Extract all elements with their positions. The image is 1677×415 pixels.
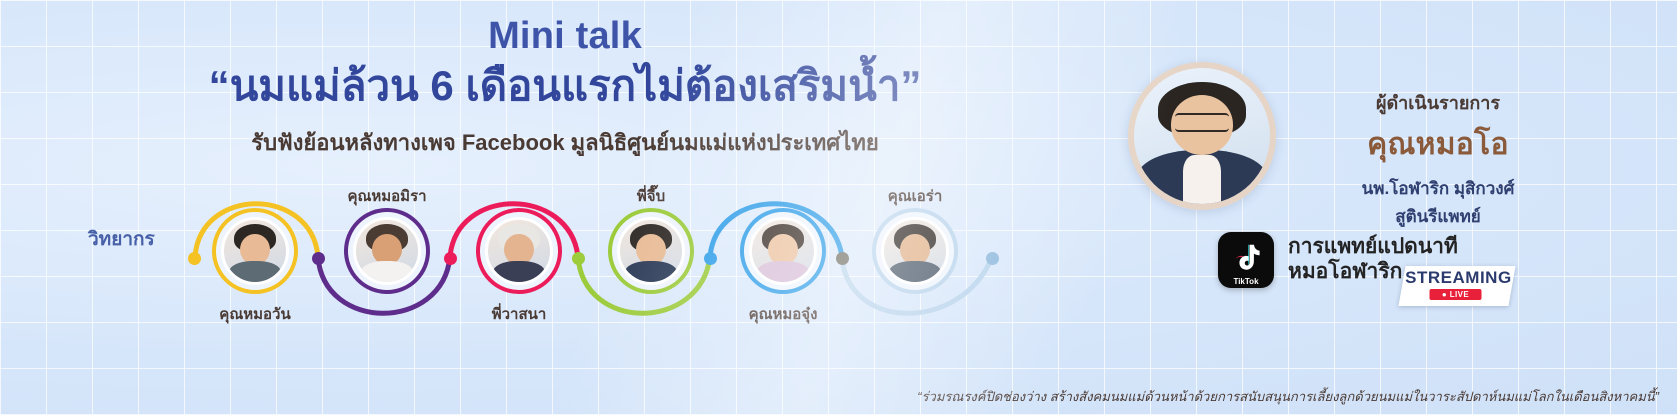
speaker-node-3[interactable]: พี่วาสนา xyxy=(463,180,575,350)
speaker-node-6[interactable]: คุณเอร่า xyxy=(859,180,971,350)
talk-title: “นมแม่ล้วน 6 เดือนแรกไม่ต้องเสริมน้ำ” xyxy=(0,60,1130,111)
tiktok-icon[interactable]: TikTok xyxy=(1218,232,1274,288)
speaker-timeline: วิทยากร คุณหมอวัน xyxy=(0,180,1060,355)
speaker-node-5[interactable]: คุณหมอจุ๋ง xyxy=(727,180,839,350)
host-role-label: ผู้ดำเนินรายการ xyxy=(1288,88,1588,117)
timeline-dot-2 xyxy=(444,252,457,265)
speaker-name-6: คุณเอร่า xyxy=(888,184,943,208)
host-full-name: นพ.โอฬาริก มุสิกวงศ์ xyxy=(1288,175,1588,202)
tiktok-note-glyph xyxy=(1231,243,1261,275)
speaker-node-4[interactable]: พี่จี๊บ xyxy=(595,180,707,350)
promo-banner: Mini talk “นมแม่ล้วน 6 เดือนแรกไม่ต้องเส… xyxy=(0,0,1677,415)
glasses-icon xyxy=(1175,113,1229,132)
tiktok-channel-line1: การแพทย์แปดนาที xyxy=(1288,235,1458,260)
speaker-name-2: คุณหมอมิรา xyxy=(347,184,426,208)
timeline-dot-1 xyxy=(312,252,325,265)
timeline-dot-end xyxy=(986,252,999,265)
talk-subtitle: รับฟังย้อนหลังทางเพจ Facebook มูลนิธิศูน… xyxy=(0,125,1130,160)
speaker-avatar-2 xyxy=(344,208,430,294)
headline-block: Mini talk “นมแม่ล้วน 6 เดือนแรกไม่ต้องเส… xyxy=(0,16,1130,160)
host-specialty: สูตินรีแพทย์ xyxy=(1288,203,1588,230)
speaker-node-1[interactable]: คุณหมอวัน xyxy=(199,180,311,350)
host-info: ผู้ดำเนินรายการ คุณหมอโอ นพ.โอฬาริก มุสิ… xyxy=(1288,88,1588,230)
tiktok-wordmark: TikTok xyxy=(1218,277,1274,286)
host-nickname: คุณหมอโอ xyxy=(1288,121,1588,168)
speaker-avatar-4 xyxy=(608,208,694,294)
streaming-badge: STREAMING ● LIVE xyxy=(1398,266,1515,306)
speakers-label: วิทยากร xyxy=(88,224,155,254)
streaming-label: STREAMING xyxy=(1403,268,1513,288)
speaker-avatar-3 xyxy=(476,208,562,294)
speaker-avatar-6 xyxy=(872,208,958,294)
footer-tagline: “ร่วมรณรงค์ปิดช่องว่าง สร้างสังคมนมแม่ด้… xyxy=(0,386,1659,407)
speaker-name-4: พี่จี๊บ xyxy=(637,184,665,208)
speaker-avatar-5 xyxy=(740,208,826,294)
live-badge: ● LIVE xyxy=(1430,289,1482,300)
host-avatar xyxy=(1128,62,1276,210)
speaker-name-3: พี่วาสนา xyxy=(492,302,547,326)
speaker-name-5: คุณหมอจุ๋ง xyxy=(749,302,818,326)
speaker-node-2[interactable]: คุณหมอมิรา xyxy=(331,180,443,350)
mini-talk-kicker: Mini talk xyxy=(0,16,1130,58)
speaker-avatar-1 xyxy=(212,208,298,294)
speaker-name-1: คุณหมอวัน xyxy=(219,302,290,326)
